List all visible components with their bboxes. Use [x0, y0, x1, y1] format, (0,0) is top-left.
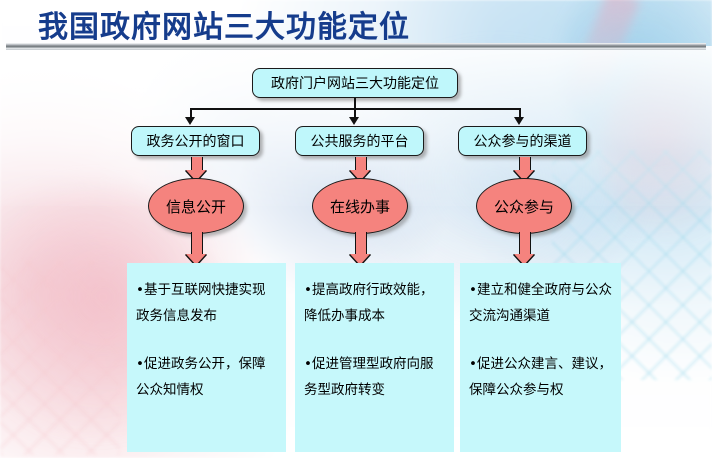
- background-lattice-left: [0, 260, 120, 455]
- slide-title: 我国政府网站三大功能定位: [38, 2, 410, 46]
- column-1-bullet-1: •基于互联网快捷实现政务信息发布: [136, 277, 277, 329]
- column-2-category-label: 公共服务的平台: [311, 131, 409, 151]
- column-2-bullet-2: •促进管理型政府向服务型政府转变: [304, 351, 445, 403]
- column-3-function-oval: 公众参与: [476, 178, 572, 234]
- arrowhead-center: [349, 117, 359, 125]
- column-2-function-label: 在线办事: [330, 196, 390, 217]
- column-1-function-label: 信息公开: [166, 196, 226, 217]
- column-3-spacer: [469, 329, 612, 351]
- column-3-arrow-oval-to-list: [514, 232, 534, 266]
- column-3-detail-box: •建立和健全政府与公众交流沟通渠道 •促进公众建言、建议，保障公众参与权: [460, 263, 621, 452]
- column-2-function-oval: 在线办事: [312, 178, 408, 234]
- column-1-bullet-2: •促进政务公开，保障公众知情权: [136, 351, 277, 403]
- root-node-label: 政府门户网站三大功能定位: [271, 73, 439, 93]
- column-3-function-label: 公众参与: [494, 196, 554, 217]
- column-1-arrow-oval-to-list: [186, 232, 206, 266]
- column-3-bullet-1: •建立和健全政府与公众交流沟通渠道: [469, 277, 612, 329]
- column-1-spacer: [136, 329, 277, 351]
- column-1-detail-box: •基于互联网快捷实现政务信息发布 •促进政务公开，保障公众知情权: [127, 263, 286, 452]
- arrowhead-right: [514, 117, 524, 125]
- arrowhead-left: [185, 117, 195, 125]
- column-2-category-box: 公共服务的平台: [295, 126, 424, 156]
- column-2-spacer: [304, 329, 445, 351]
- root-node-box: 政府门户网站三大功能定位: [252, 68, 458, 98]
- slide-canvas: 我国政府网站三大功能定位 政府门户网站三大功能定位 政务公开的窗口 信息公开 •…: [0, 0, 712, 458]
- column-1-function-oval: 信息公开: [148, 178, 244, 234]
- column-1-category-box: 政务公开的窗口: [131, 126, 260, 156]
- column-3-category-box: 公众参与的渠道: [458, 126, 587, 156]
- title-divider-rule: [6, 43, 706, 50]
- column-3-category-label: 公众参与的渠道: [474, 131, 572, 151]
- column-2-bullet-1: •提高政府行政效能，降低办事成本: [304, 277, 445, 329]
- column-2-detail-box: •提高政府行政效能，降低办事成本 •促进管理型政府向服务型政府转变: [295, 263, 454, 452]
- column-1-category-label: 政务公开的窗口: [147, 131, 245, 151]
- column-3-bullet-2: •促进公众建言、建议，保障公众参与权: [469, 351, 612, 403]
- column-2-arrow-oval-to-list: [350, 232, 370, 266]
